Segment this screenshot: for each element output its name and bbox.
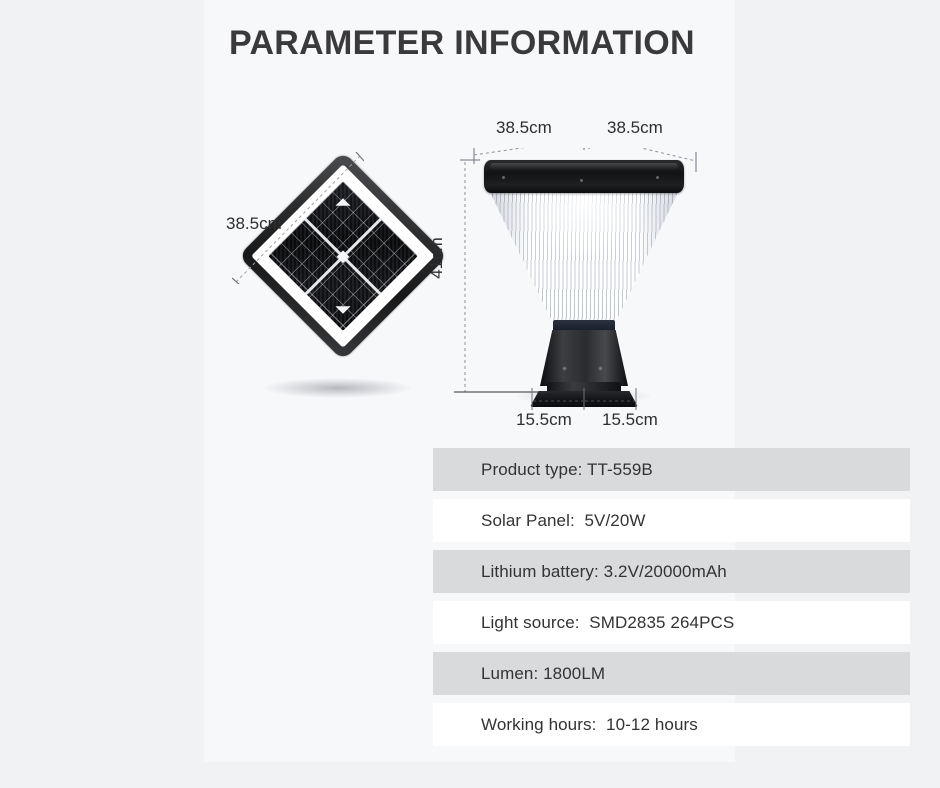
product-info-panel: PARAMETER INFORMATION	[204, 0, 735, 762]
lamp-body-cone	[540, 330, 628, 386]
lamp-base-plate	[530, 391, 638, 407]
product-illustrations: 38.5cm	[204, 110, 735, 430]
lamp-dimension-label-bottom-left: 15.5cm	[516, 410, 572, 430]
solar-panel-shadow	[264, 378, 412, 398]
lamp-top-cap-highlight	[490, 163, 678, 170]
solar-panel-frame	[251, 164, 435, 348]
solar-panel-image	[238, 151, 447, 360]
lamp-cap-screw	[502, 176, 505, 179]
spec-row: Product type: TT-559B	[433, 448, 910, 491]
lamp-cap-screw	[656, 176, 659, 179]
spec-row: Solar Panel: 5V/20W	[433, 499, 910, 542]
lamp-top-cap	[484, 160, 684, 193]
solar-panel-figure: 38.5cm	[226, 140, 456, 400]
lamp-cap-screw	[580, 179, 583, 182]
spec-row: Light source: SMD2835 264PCS	[433, 601, 910, 644]
spec-row: Lithium battery: 3.2V/20000mAh	[433, 550, 910, 593]
lamp-dimension-label-top-left: 38.5cm	[496, 118, 552, 138]
lamp-body-screw	[598, 366, 603, 371]
solar-panel-dimension-label: 38.5cm	[226, 214, 282, 234]
lamp-dimension-label-bottom-right: 15.5cm	[602, 410, 658, 430]
lamp-dimension-label-top-right: 38.5cm	[607, 118, 663, 138]
lamp-figure: 38.5cm 38.5cm 41cm 15.5cm 15.5cm	[454, 148, 719, 438]
page-title: PARAMETER INFORMATION	[229, 24, 695, 63]
panel-corner-notch	[335, 298, 351, 314]
lamp-dimension-label-height: 41cm	[427, 237, 447, 279]
spec-row: Working hours: 10-12 hours	[433, 703, 910, 746]
spec-row: Lumen: 1800LM	[433, 652, 910, 695]
specification-table: Product type: TT-559B Solar Panel: 5V/20…	[433, 448, 910, 754]
lamp-body-screw	[562, 366, 567, 371]
panel-corner-notch	[335, 198, 351, 214]
lamp-diffuser-shading	[488, 188, 680, 324]
